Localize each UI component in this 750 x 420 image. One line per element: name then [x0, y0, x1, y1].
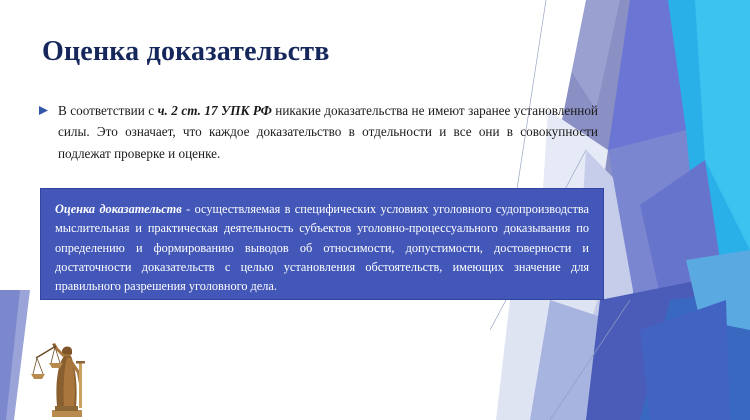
definition-callout-box: Оценка доказательств - осуществляемая в …: [40, 188, 604, 300]
bullet-paragraph: В соответствии с ч. 2 ст. 17 УПК РФ ника…: [38, 100, 598, 164]
bullet-text-emphasis: ч. 2 ст. 17 УПК РФ: [158, 103, 272, 118]
page-title: Оценка доказательств: [42, 36, 330, 68]
bullet-text: В соответствии с ч. 2 ст. 17 УПК РФ ника…: [58, 100, 598, 164]
definition-text: Оценка доказательств - осуществляемая в …: [55, 200, 589, 296]
lady-justice-statue-icon: [24, 332, 104, 420]
definition-term: Оценка доказательств: [55, 202, 182, 216]
presentation-slide: Оценка доказательств В соответствии с ч.…: [0, 0, 750, 420]
bullet-text-lead: В соответствии с: [58, 103, 158, 118]
triangle-right-bullet-icon: [38, 100, 58, 116]
